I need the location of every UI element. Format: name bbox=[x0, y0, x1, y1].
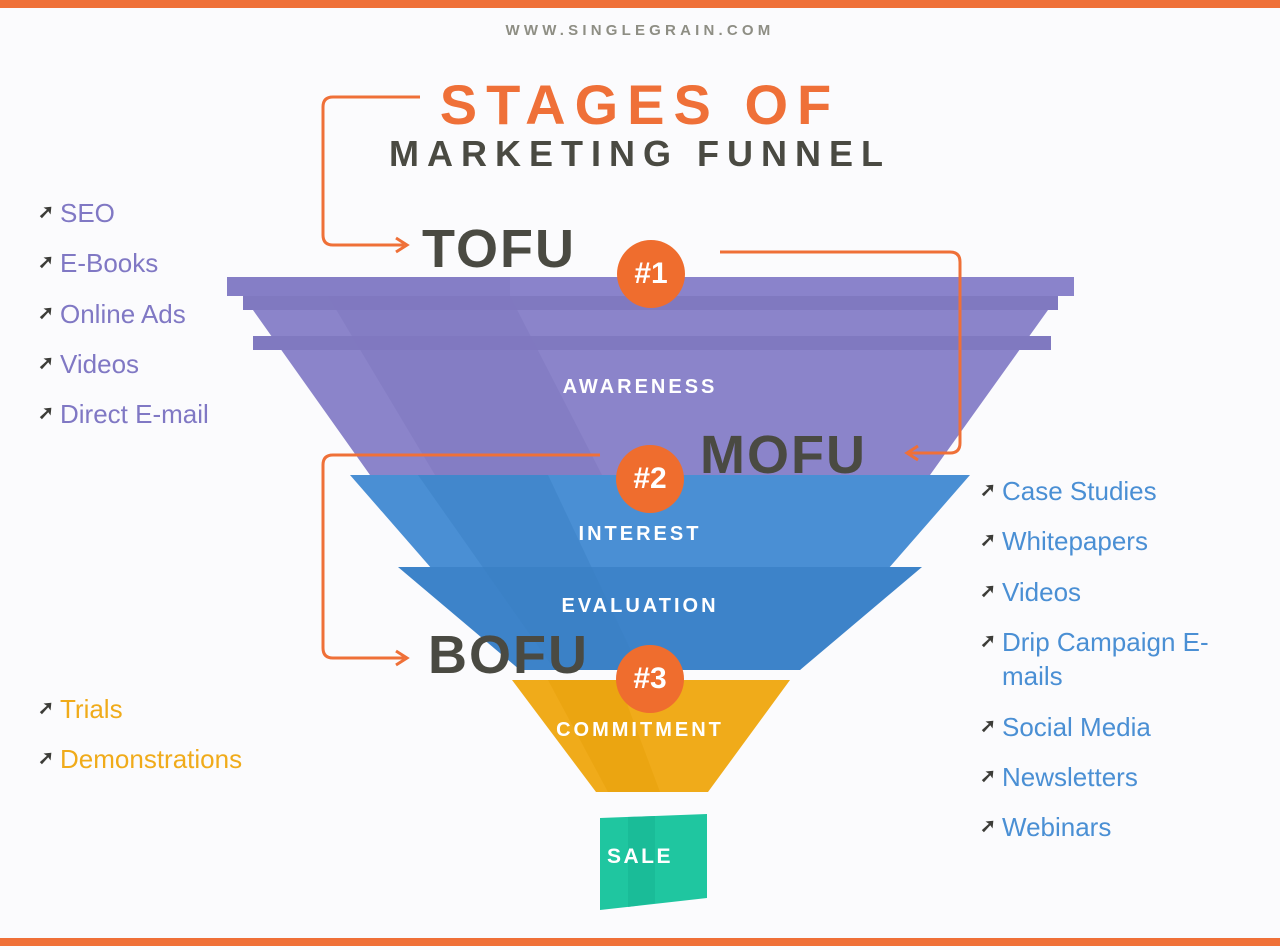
list-item: ➚ Webinars bbox=[980, 810, 1262, 844]
arrow-up-right-icon: ➚ bbox=[980, 531, 1002, 550]
list-item-label: Videos bbox=[1002, 575, 1081, 609]
list-item-label: Newsletters bbox=[1002, 760, 1138, 794]
stage-label-tofu: TOFU bbox=[422, 218, 576, 280]
stage-label-bofu: BOFU bbox=[428, 624, 589, 686]
list-item: ➚ Videos bbox=[980, 575, 1262, 609]
arrow-up-right-icon: ➚ bbox=[980, 817, 1002, 836]
list-item-label: Trials bbox=[60, 692, 123, 726]
list-item: ➚ Videos bbox=[38, 347, 368, 381]
list-item: ➚ Online Ads bbox=[38, 297, 368, 331]
list-item-label: Whitepapers bbox=[1002, 524, 1148, 558]
list-item-label: Case Studies bbox=[1002, 474, 1157, 508]
infographic-canvas: WWW.SINGLEGRAIN.COM STAGES OF MARKETING … bbox=[0, 0, 1280, 950]
list-item: ➚ Direct E-mail bbox=[38, 397, 368, 431]
list-item: ➚ Case Studies bbox=[980, 474, 1262, 508]
list-item-label: Demonstrations bbox=[60, 742, 242, 776]
list-item-label: Drip Campaign E-mails bbox=[1002, 625, 1262, 694]
list-item: ➚ Demonstrations bbox=[38, 742, 368, 776]
arrow-up-right-icon: ➚ bbox=[38, 253, 60, 272]
list-item: ➚ SEO bbox=[38, 196, 368, 230]
tofu-tactics-list: ➚ SEO ➚ E-Books ➚ Online Ads ➚ Videos ➚ … bbox=[38, 196, 368, 448]
list-item-label: Online Ads bbox=[60, 297, 186, 331]
stage-badge-1: #1 bbox=[617, 240, 685, 308]
arrow-up-right-icon: ➚ bbox=[980, 717, 1002, 736]
stage-badge-2: #2 bbox=[616, 445, 684, 513]
list-item-label: SEO bbox=[60, 196, 115, 230]
arrow-up-right-icon: ➚ bbox=[38, 404, 60, 423]
arrow-up-right-icon: ➚ bbox=[980, 481, 1002, 500]
list-item-label: Social Media bbox=[1002, 710, 1151, 744]
arrow-up-right-icon: ➚ bbox=[38, 699, 60, 718]
list-item: ➚ Trials bbox=[38, 692, 368, 726]
arrow-up-right-icon: ➚ bbox=[38, 354, 60, 373]
list-item: ➚ Newsletters bbox=[980, 760, 1262, 794]
arrow-up-right-icon: ➚ bbox=[38, 203, 60, 222]
stage-badge-3: #3 bbox=[616, 645, 684, 713]
arrow-up-right-icon: ➚ bbox=[980, 767, 1002, 786]
arrow-up-right-icon: ➚ bbox=[38, 749, 60, 768]
list-item: ➚ E-Books bbox=[38, 246, 368, 280]
list-item: ➚ Whitepapers bbox=[980, 524, 1262, 558]
arrow-up-right-icon: ➚ bbox=[980, 582, 1002, 601]
list-item-label: Webinars bbox=[1002, 810, 1111, 844]
arrow-up-right-icon: ➚ bbox=[38, 304, 60, 323]
list-item-label: Direct E-mail bbox=[60, 397, 209, 431]
list-item-label: Videos bbox=[60, 347, 139, 381]
stage-label-mofu: MOFU bbox=[700, 424, 867, 486]
list-item-label: E-Books bbox=[60, 246, 158, 280]
list-item: ➚ Social Media bbox=[980, 710, 1262, 744]
mofu-tactics-list: ➚ Case Studies ➚ Whitepapers ➚ Videos ➚ … bbox=[980, 474, 1262, 861]
bofu-tactics-list: ➚ Trials ➚ Demonstrations bbox=[38, 692, 368, 793]
arrow-up-right-icon: ➚ bbox=[980, 632, 1002, 651]
list-item: ➚ Drip Campaign E-mails bbox=[980, 625, 1262, 694]
